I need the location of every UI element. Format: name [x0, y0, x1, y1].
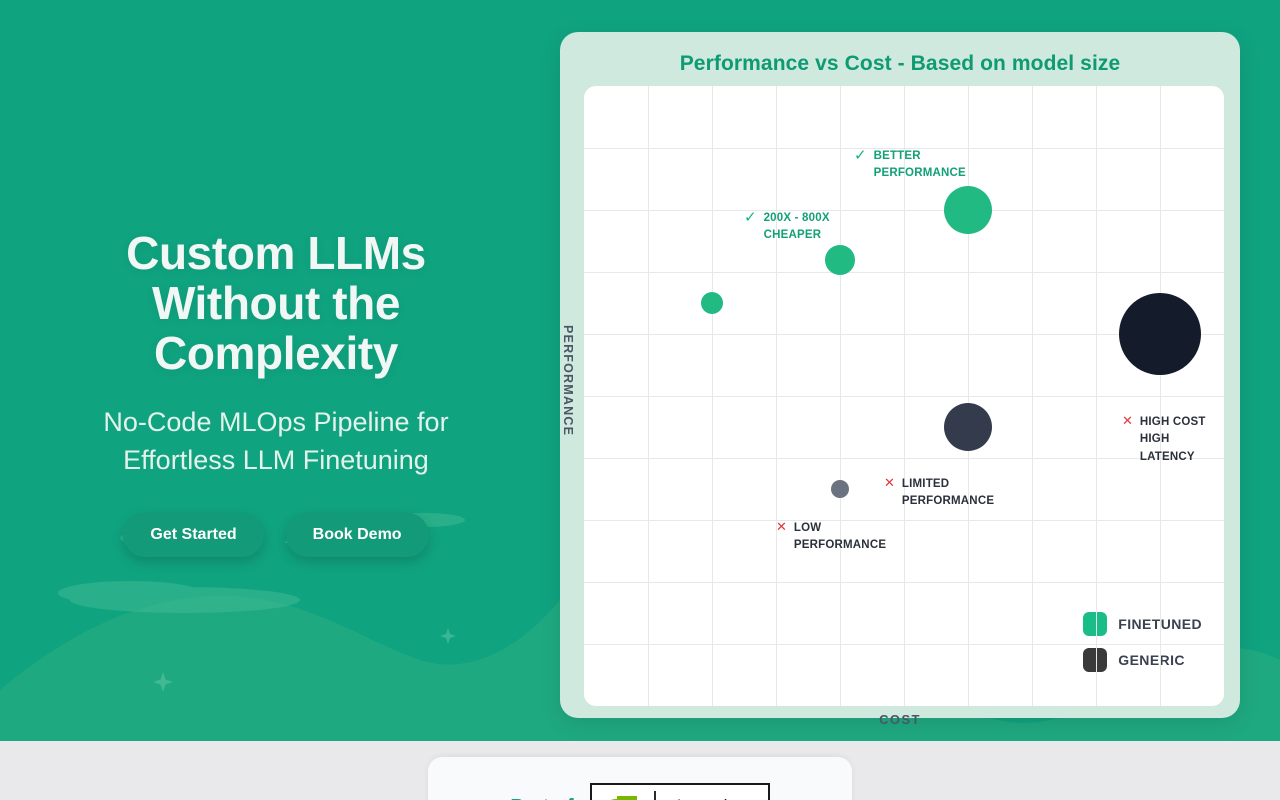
grid-line-horizontal — [584, 396, 1224, 397]
hero-subtitle: No-Code MLOps Pipeline for Effortless LL… — [0, 404, 552, 479]
legend-item-generic: GENERIC — [1083, 648, 1202, 672]
legend-item-finetuned: FINETUNED — [1083, 612, 1202, 636]
data-bubble-finetuned — [944, 186, 992, 234]
chart-title: Performance vs Cost - Based on model siz… — [560, 32, 1240, 76]
book-demo-button[interactable]: Book Demo — [286, 513, 429, 557]
cross-icon: ✕ — [884, 476, 895, 490]
hero-button-group: Get Started Book Demo — [0, 513, 552, 557]
hero-section: Custom LLMs Without the Complexity No-Co… — [0, 228, 552, 557]
data-bubble-finetuned — [701, 292, 723, 314]
grid-line-horizontal — [584, 582, 1224, 583]
data-bubble-finetuned — [825, 245, 855, 275]
annotation-limited-performance: ✕LIMITED PERFORMANCE — [884, 476, 994, 511]
annotation-high-cost: ✕HIGH COST HIGH LATENCY — [1122, 414, 1206, 466]
grid-line-horizontal — [584, 520, 1224, 521]
data-bubble-generic — [1119, 293, 1201, 375]
nvidia-inception-logo: Inception — [590, 783, 770, 800]
annotation-label: LOW PERFORMANCE — [794, 520, 886, 555]
part-of-label: Part of — [510, 783, 573, 800]
scatter-plot-area: FINETUNED GENERIC ✓BETTER PERFORMANCE✓20… — [584, 86, 1224, 706]
inception-wordmark: Inception — [656, 796, 768, 800]
get-started-button[interactable]: Get Started — [123, 513, 263, 557]
check-icon: ✓ — [854, 148, 867, 164]
y-axis-label: PERFORMANCE — [561, 325, 575, 436]
grid-line-horizontal — [584, 272, 1224, 273]
x-axis-label: COST — [560, 712, 1240, 727]
cross-icon: ✕ — [1122, 414, 1133, 428]
data-bubble-generic — [831, 480, 849, 498]
chart-legend: FINETUNED GENERIC — [1083, 612, 1202, 684]
data-bubble-generic — [944, 403, 992, 451]
annotation-label: HIGH COST HIGH LATENCY — [1140, 414, 1206, 466]
grid-line-horizontal — [584, 644, 1224, 645]
grid-line-horizontal — [584, 210, 1224, 211]
nvidia-eye-icon — [592, 793, 654, 800]
chart-card: Performance vs Cost - Based on model siz… — [560, 32, 1240, 718]
annotation-label: LIMITED PERFORMANCE — [902, 476, 994, 511]
cross-icon: ✕ — [776, 520, 787, 534]
annotation-cheaper: ✓200X - 800X CHEAPER — [744, 210, 830, 245]
check-icon: ✓ — [744, 210, 757, 226]
legend-label-generic: GENERIC — [1118, 652, 1185, 668]
annotation-low-performance: ✕LOW PERFORMANCE — [776, 520, 886, 555]
annotation-label: 200X - 800X CHEAPER — [764, 210, 830, 245]
annotation-label: BETTER PERFORMANCE — [874, 148, 966, 183]
annotation-better-performance: ✓BETTER PERFORMANCE — [854, 148, 966, 183]
partner-card: Part of Inception — [428, 757, 852, 800]
page-title: Custom LLMs Without the Complexity — [0, 228, 552, 378]
